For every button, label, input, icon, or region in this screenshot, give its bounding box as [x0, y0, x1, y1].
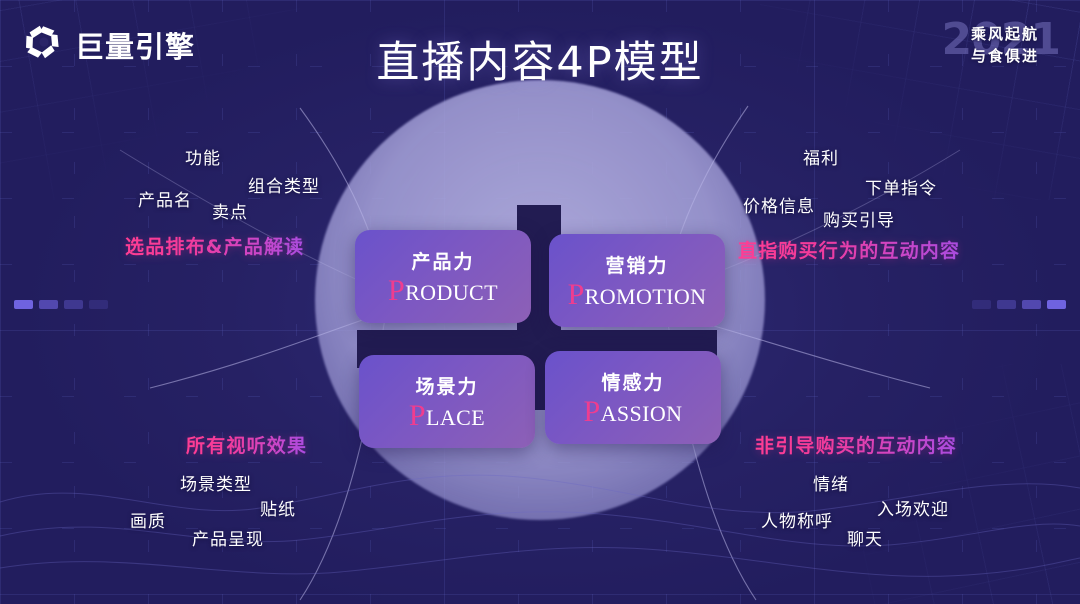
card-rest-letters: ROMOTION: [585, 285, 707, 308]
keyword: 组合类型: [248, 172, 320, 197]
quadrant-heading: 所有视听效果: [186, 431, 307, 458]
card-title-en: P LACE: [409, 400, 485, 432]
decor-dashes-right: [972, 300, 1066, 309]
keyword: 功能: [185, 144, 221, 169]
card-title-en: P ROMOTION: [568, 279, 707, 311]
slide-canvas: 巨量引擎 直播内容4P模型 2021 乘风起航 与食俱进 产品力 P RODUC…: [0, 0, 1080, 604]
card-passion[interactable]: 情感力 P ASSION: [545, 351, 721, 444]
badge-line-2: 与食俱进: [971, 45, 1039, 66]
card-lead-letter: P: [409, 400, 426, 432]
keyword: 场景类型: [180, 470, 252, 495]
keyword: 情绪: [813, 470, 849, 495]
page-title: 直播内容4P模型: [0, 28, 1080, 90]
keyword: 画质: [130, 507, 166, 532]
keyword: 购买引导: [823, 206, 895, 231]
card-title-cn: 营销力: [605, 251, 668, 278]
card-rest-letters: RODUCT: [405, 281, 498, 304]
card-title-cn: 情感力: [601, 368, 664, 395]
keyword: 聊天: [847, 525, 883, 550]
keyword: 产品呈现: [192, 525, 264, 550]
card-title-en: P ASSION: [584, 396, 683, 428]
keyword: 入场欢迎: [877, 495, 949, 520]
keyword: 人物称呼: [761, 507, 833, 532]
card-promotion[interactable]: 营销力 P ROMOTION: [549, 234, 725, 327]
card-lead-letter: P: [568, 279, 585, 311]
four-p-card-grid: 产品力 P RODUCT 营销力 P ROMOTION 场景力 P LACE 情…: [355, 230, 725, 440]
card-place[interactable]: 场景力 P LACE: [359, 355, 535, 448]
keyword: 产品名: [138, 186, 192, 211]
keyword: 福利: [803, 144, 839, 169]
quadrant-heading: 直指购买行为的互动内容: [738, 236, 960, 263]
keyword: 卖点: [212, 198, 248, 223]
card-rest-letters: ASSION: [601, 402, 683, 425]
card-title-en: P RODUCT: [388, 275, 498, 307]
keyword: 价格信息: [743, 192, 815, 217]
quadrant-heading: 非引导购买的互动内容: [755, 431, 957, 458]
card-product[interactable]: 产品力 P RODUCT: [355, 230, 531, 323]
quadrant-heading: 选品排布&产品解读: [125, 232, 304, 259]
campaign-badge: 2021 乘风起航 与食俱进: [944, 16, 1066, 72]
card-title-cn: 产品力: [411, 247, 474, 274]
badge-line-1: 乘风起航: [971, 23, 1039, 44]
decor-dashes-left: [14, 300, 108, 309]
keyword: 下单指令: [865, 174, 937, 199]
keyword: 贴纸: [260, 495, 296, 520]
card-lead-letter: P: [584, 396, 601, 428]
card-rest-letters: LACE: [426, 406, 485, 429]
card-lead-letter: P: [388, 275, 405, 307]
card-title-cn: 场景力: [415, 372, 478, 399]
